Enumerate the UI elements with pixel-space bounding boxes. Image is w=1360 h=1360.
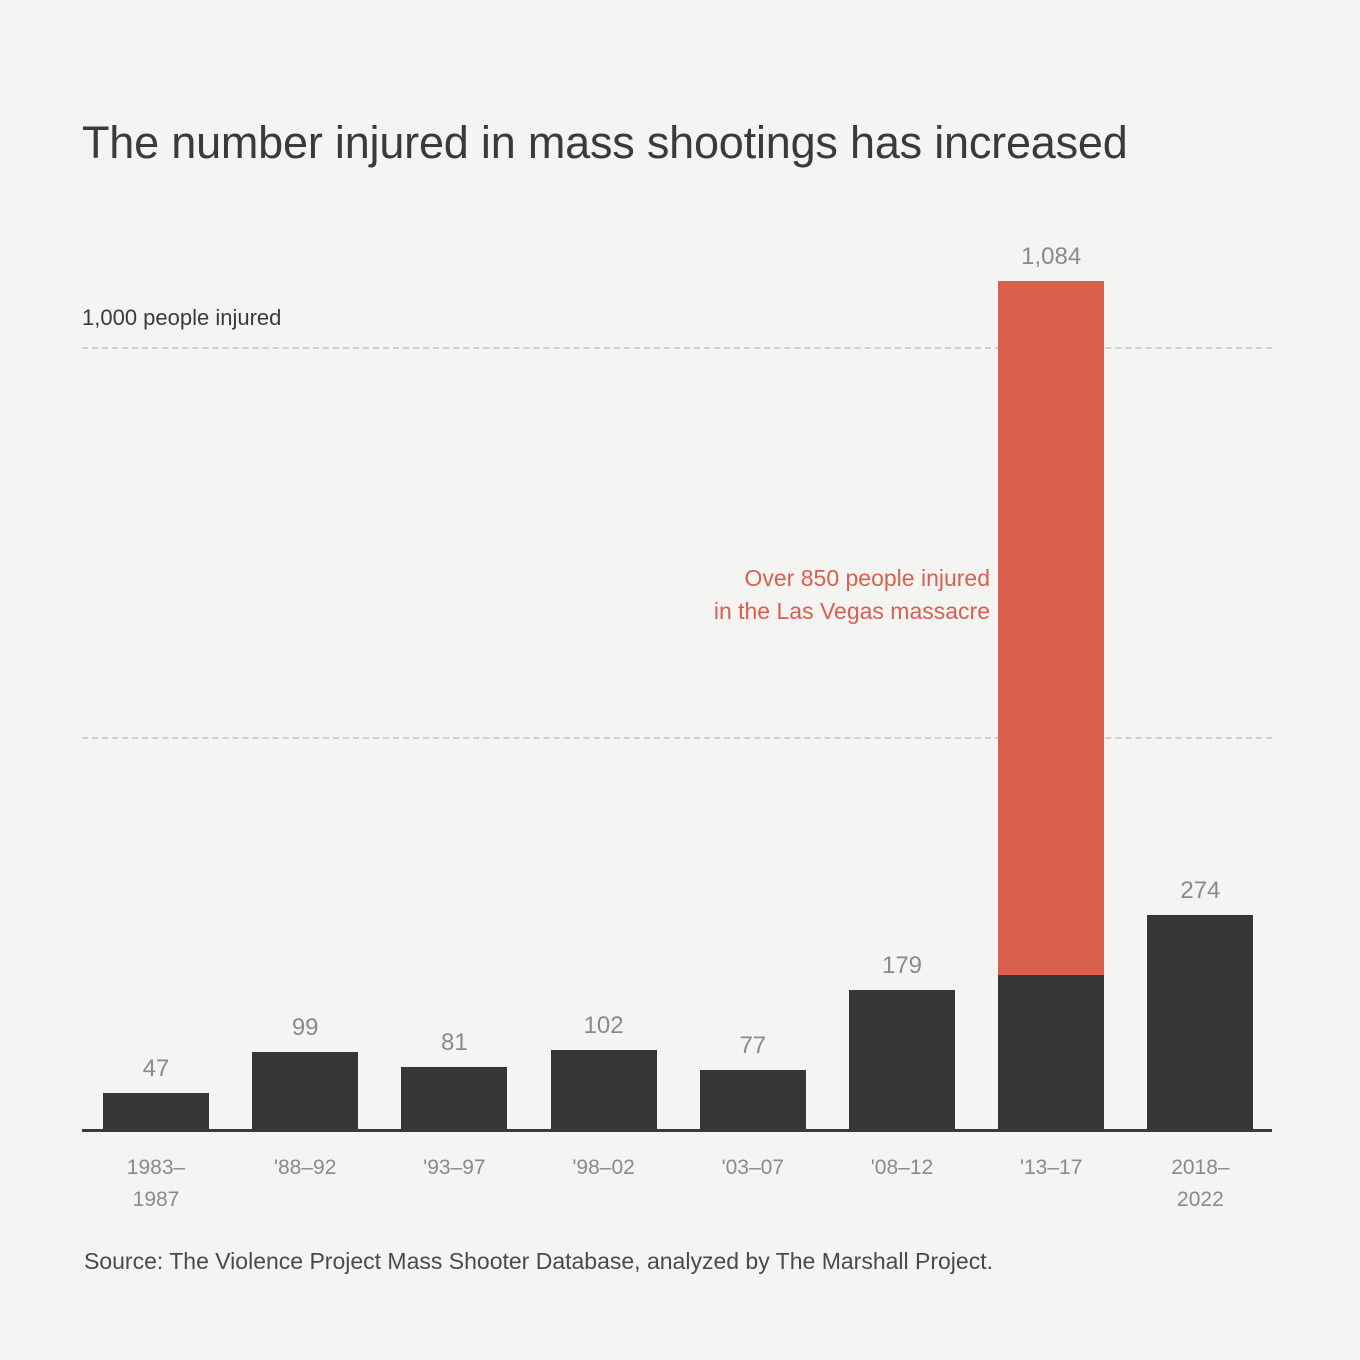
bar-segment-base[interactable] (1147, 915, 1253, 1130)
x-axis-tick-label: '03–07 (680, 1152, 826, 1184)
x-axis-tick-label: '93–97 (381, 1152, 527, 1184)
bar-group[interactable]: 1,084'13–17 (998, 281, 1104, 1130)
x-axis-tick-label: 1983–1987 (83, 1152, 229, 1215)
x-axis-tick-label: '13–17 (978, 1152, 1124, 1184)
bar-group[interactable]: 81'93–97 (401, 1067, 507, 1130)
bar-group[interactable]: 2742018–2022 (1147, 915, 1253, 1130)
bar-group[interactable]: 102'98–02 (551, 1050, 657, 1130)
x-axis-tick-label: 2018–2022 (1127, 1152, 1273, 1215)
bar-value-label: 102 (551, 1012, 657, 1040)
x-axis-tick-label: '98–02 (531, 1152, 677, 1184)
bar-stack (252, 1052, 358, 1130)
bar-value-label: 81 (401, 1029, 507, 1057)
bar-stack (700, 1070, 806, 1130)
bar-stack (1147, 915, 1253, 1130)
bar-value-label: 47 (103, 1055, 209, 1083)
bar-segment-base[interactable] (849, 990, 955, 1130)
bar-segment-highlight[interactable] (998, 281, 1104, 975)
x-axis-tick-label: '88–92 (232, 1152, 378, 1184)
bar-stack (551, 1050, 657, 1130)
bar-segment-base[interactable] (551, 1050, 657, 1130)
x-axis-tick-label: '08–12 (829, 1152, 975, 1184)
bar-group[interactable]: 471983–1987 (103, 1093, 209, 1130)
bar-segment-base[interactable] (103, 1093, 209, 1130)
annotation-line-1: Over 850 people injured (600, 562, 990, 595)
bar-value-label: 1,084 (998, 243, 1104, 271)
bar-stack (401, 1067, 507, 1130)
bar-segment-base[interactable] (998, 975, 1104, 1130)
annotation-line-2: in the Las Vegas massacre (600, 595, 990, 628)
bar-stack (998, 281, 1104, 1130)
gridline-label-1000: 1,000 people injured (82, 305, 281, 331)
bar-value-label: 99 (252, 1014, 358, 1042)
bar-group[interactable]: 77'03–07 (700, 1070, 806, 1130)
chart-root: The number injured in mass shootings has… (0, 0, 1360, 1360)
bar-group[interactable]: 179'08–12 (849, 990, 955, 1130)
bar-segment-base[interactable] (401, 1067, 507, 1130)
bar-value-label: 77 (700, 1032, 806, 1060)
bar-stack (103, 1093, 209, 1130)
annotation-las-vegas: Over 850 people injured in the Las Vegas… (600, 562, 990, 629)
bar-group[interactable]: 99'88–92 (252, 1052, 358, 1130)
x-axis-line (82, 1129, 1272, 1132)
bar-segment-base[interactable] (700, 1070, 806, 1130)
bar-stack (849, 990, 955, 1130)
bar-value-label: 179 (849, 952, 955, 980)
bar-value-label: 274 (1147, 877, 1253, 905)
plot-area: 1,000 people injured 471983–198799'88–92… (0, 0, 1360, 1360)
bar-segment-base[interactable] (252, 1052, 358, 1130)
source-note: Source: The Violence Project Mass Shoote… (84, 1248, 993, 1275)
